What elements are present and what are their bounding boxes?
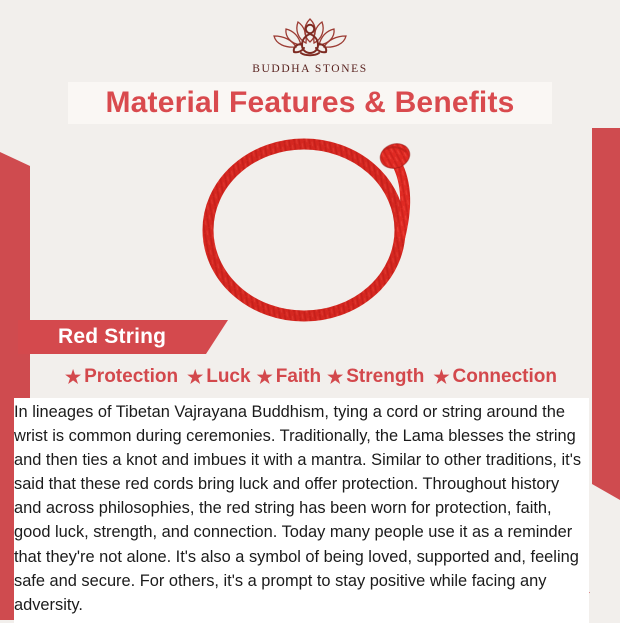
star-icon: ★ [433, 368, 449, 386]
star-icon: ★ [187, 368, 203, 386]
benefit-item-protection: ★ Protection [65, 366, 178, 388]
benefit-label: Connection [453, 366, 558, 388]
benefit-label: Faith [276, 366, 321, 388]
star-icon: ★ [327, 368, 343, 386]
section-ribbon: Red String [18, 320, 228, 354]
frame-band-right [592, 128, 620, 500]
benefit-item-strength: ★ Strength [327, 366, 424, 388]
benefit-label: Strength [346, 366, 424, 388]
section-ribbon-label: Red String [18, 325, 166, 349]
page-title: Material Features & Benefits [105, 86, 514, 120]
benefit-label: Luck [206, 366, 250, 388]
star-icon: ★ [65, 368, 81, 386]
benefit-item-faith: ★ Faith [257, 366, 322, 388]
benefits-list: ★ Protection ★ Luck ★ Faith ★ Strength ★… [30, 360, 592, 394]
benefit-item-luck: ★ Luck [187, 366, 251, 388]
red-string-bracelet-illustration [186, 126, 436, 322]
description-text: In lineages of Tibetan Vajrayana Buddhis… [14, 400, 589, 617]
benefit-item-connection: ★ Connection [433, 366, 557, 388]
description-panel: In lineages of Tibetan Vajrayana Buddhis… [14, 398, 589, 623]
brand-logo: BUDDHA STONES [0, 10, 620, 75]
benefit-label: Protection [84, 366, 178, 388]
title-banner: Material Features & Benefits [68, 82, 552, 124]
product-image [30, 126, 592, 322]
brand-name: BUDDHA STONES [252, 63, 367, 75]
lotus-meditating-figure-icon [251, 10, 369, 60]
star-icon: ★ [257, 368, 273, 386]
infographic-card: BUDDHA STONES Material Features & Benefi… [0, 0, 620, 620]
